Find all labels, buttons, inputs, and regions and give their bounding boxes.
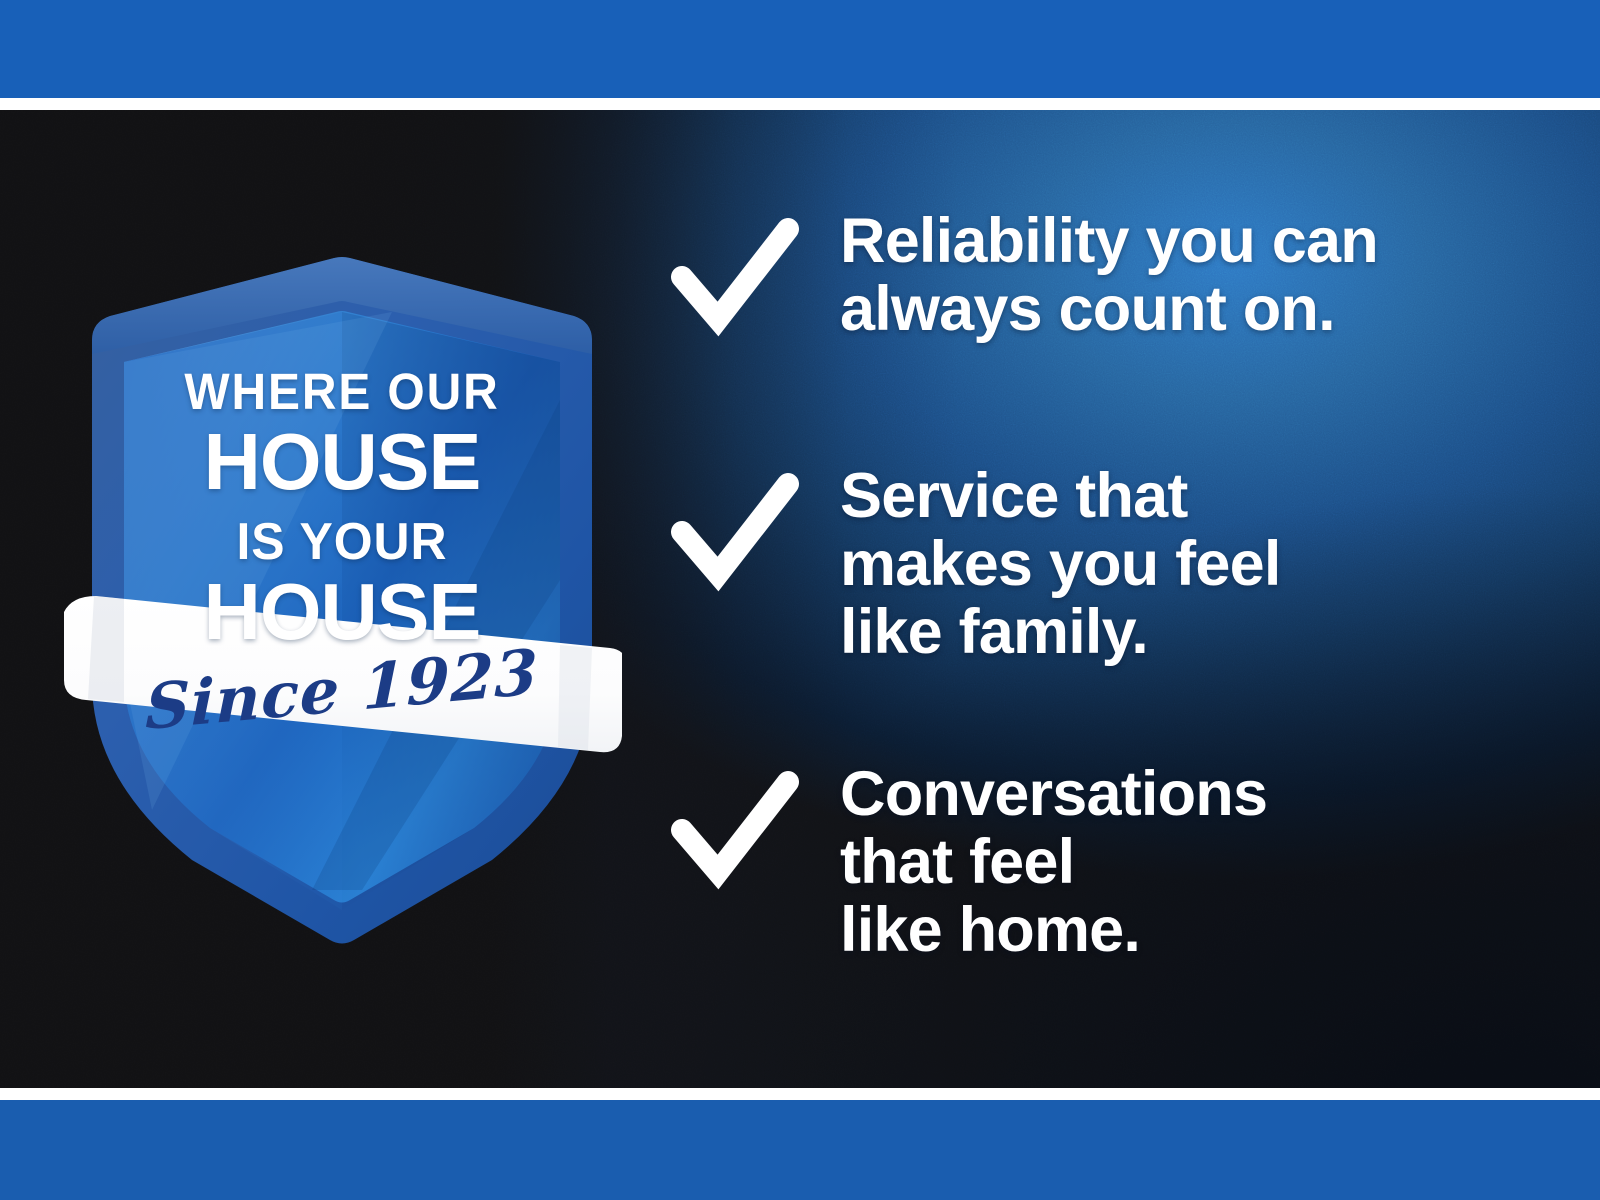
checkmark-icon — [668, 211, 800, 343]
top-brand-bar — [0, 0, 1600, 98]
benefits-list: Reliability you can always count on. Ser… — [660, 110, 1600, 1088]
checkmark-icon — [668, 466, 800, 598]
checkmark-icon — [668, 764, 800, 896]
benefit-text: Service that makes you feel like family. — [840, 460, 1281, 666]
benefit-item: Reliability you can always count on. — [668, 205, 1378, 343]
benefit-text: Conversations that feel like home. — [840, 758, 1267, 964]
promo-poster: WHERE OUR HOUSE IS YOUR HOUSE Since 1923… — [0, 0, 1600, 1200]
benefit-item: Conversations that feel like home. — [668, 758, 1267, 964]
bottom-brand-bar — [0, 1100, 1600, 1200]
shield-logo: WHERE OUR HOUSE IS YOUR HOUSE Since 1923 — [62, 250, 622, 950]
benefit-text: Reliability you can always count on. — [840, 205, 1378, 343]
bottom-white-divider — [0, 1088, 1600, 1100]
top-white-divider — [0, 98, 1600, 110]
benefit-item: Service that makes you feel like family. — [668, 460, 1281, 666]
